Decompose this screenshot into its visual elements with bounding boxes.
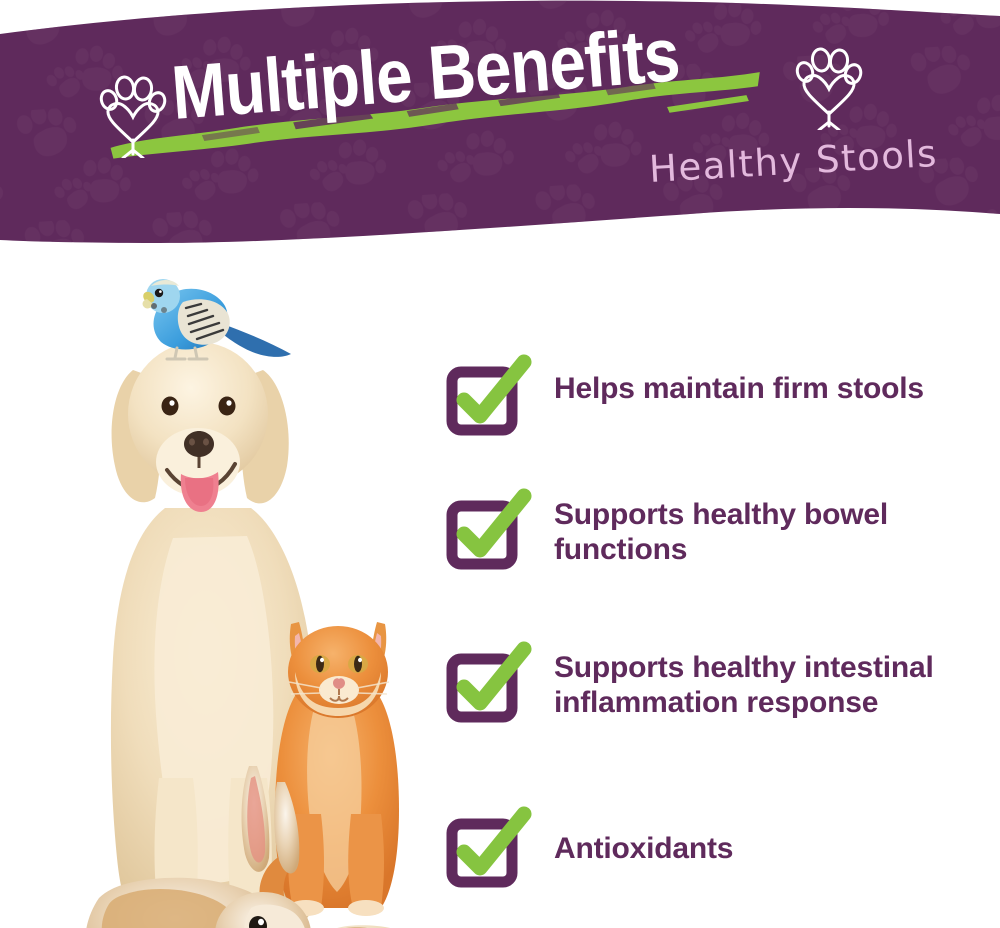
benefit-label: Supports healthy bowel functions bbox=[554, 492, 993, 568]
checked-checkbox-icon bbox=[448, 358, 534, 434]
checked-checkbox-icon bbox=[448, 492, 534, 568]
benefit-item: Helps maintain firm stools bbox=[448, 358, 993, 434]
benefit-label: Supports healthy intestinal inflammation… bbox=[554, 645, 993, 721]
benefit-label: Antioxidants bbox=[554, 810, 733, 867]
benefit-item: Supports healthy bowel functions bbox=[448, 492, 993, 568]
pets-photo bbox=[55, 258, 435, 928]
header-banner: Multiple Benefits Healthy Stools bbox=[0, 0, 1000, 260]
benefit-label: Helps maintain firm stools bbox=[554, 358, 924, 407]
checked-checkbox-icon bbox=[448, 810, 534, 886]
benefit-item: Antioxidants bbox=[448, 810, 993, 886]
checked-checkbox-icon bbox=[448, 645, 534, 721]
banner-shape bbox=[0, 0, 1000, 260]
benefit-item: Supports healthy intestinal inflammation… bbox=[448, 645, 993, 721]
benefits-list: Helps maintain firm stools Supports heal… bbox=[448, 250, 993, 910]
